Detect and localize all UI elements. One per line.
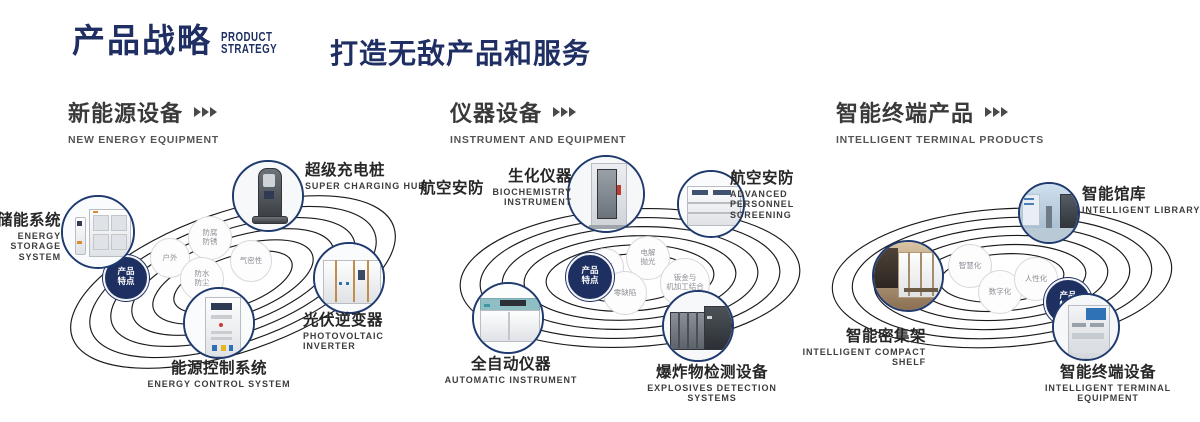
page-title: 产品战略 PRODUCT STRATEGY — [72, 24, 293, 57]
product-node-compact-shelf[interactable] — [872, 240, 944, 312]
section-heading-cn: 新能源设备 — [68, 96, 219, 128]
chevron-right-icon — [552, 107, 576, 117]
section-heading-en: NEW ENERGY EQUIPMENT — [68, 134, 219, 146]
product-label-compact-shelf: 智能密集架 INTELLIGENT COMPACT SHELF — [778, 328, 926, 368]
cluster-intelligent-terminal: 智慧化 数字化 人性化 产品 特点 智能馆库 — [820, 160, 1200, 410]
section-heading-cn: 智能终端产品 — [836, 96, 1044, 128]
product-node-terminal-equipment[interactable] — [1052, 293, 1120, 361]
section-heading-cn-text: 新能源设备 — [68, 96, 183, 128]
section-heading-en: INSTRUMENT AND EQUIPMENT — [450, 134, 626, 146]
product-label-pv-inverter: 光伏逆变器 PHOTOVOLTAIC INVERTER — [303, 312, 438, 352]
biochemistry-analyzer-icon — [569, 157, 643, 231]
product-label-energy-control: 能源控制系统 ENERGY CONTROL SYSTEM — [90, 360, 348, 389]
energy-storage-cabinet-icon — [63, 197, 133, 267]
chevron-right-icon — [984, 107, 1008, 117]
product-label-biochemistry: 生化仪器 BIOCHEMISTRY INSTRUMENT — [482, 168, 572, 208]
control-cabinet-icon — [185, 289, 253, 357]
product-label-terminal-equipment: 智能终端设备 INTELLIGENT TERMINAL EQUIPMENT — [1016, 364, 1200, 404]
product-node-pv-inverter[interactable] — [313, 242, 385, 314]
inverter-cabinet-icon — [315, 244, 383, 312]
chevron-right-icon — [193, 107, 217, 117]
section-heading-en: INTELLIGENT TERMINAL PRODUCTS — [836, 134, 1044, 146]
title-english-line2: STRATEGY — [221, 43, 277, 55]
section-heading-new-energy: 新能源设备 NEW ENERGY EQUIPMENT — [68, 96, 219, 146]
library-room-icon — [1020, 184, 1078, 242]
product-node-energy-storage[interactable] — [61, 195, 135, 269]
page-subtitle: 打造无敌产品和服务 — [330, 32, 591, 72]
section-heading-cn: 仪器设备 — [450, 96, 626, 128]
section-heading-instrument: 仪器设备 INSTRUMENT AND EQUIPMENT — [450, 96, 626, 146]
product-node-intelligent-library[interactable] — [1018, 182, 1080, 244]
product-node-automatic-instrument[interactable] — [472, 282, 544, 354]
product-label-intelligent-library: 智能馆库 INTELLIGENT LIBRARY — [1082, 186, 1200, 215]
feature-bubble: 防腐 防锈 — [188, 216, 232, 260]
section-heading-cn-text: 仪器设备 — [450, 96, 542, 128]
product-label-automatic-instrument: 全自动仪器 AUTOMATIC INSTRUMENT — [437, 356, 585, 385]
product-strategy-infographic: 产品战略 PRODUCT STRATEGY 打造无敌产品和服务 新能源设备 NE… — [0, 0, 1200, 422]
feature-bubble: 气密性 — [230, 240, 272, 282]
charging-pile-icon — [234, 162, 302, 230]
product-label-aviation-security: 航空安防 — [404, 180, 484, 197]
title-chinese: 产品战略 — [72, 24, 212, 57]
product-node-energy-control[interactable] — [183, 287, 255, 359]
product-label-energy-storage: 储能系统 ENERGY STORAGE SYSTEM — [0, 212, 61, 262]
product-node-charging-hub[interactable] — [232, 160, 304, 232]
feature-bubble-primary: 产品 特点 — [566, 253, 614, 301]
section-heading-cn-text: 智能终端产品 — [836, 96, 974, 128]
title-english: PRODUCT STRATEGY — [221, 31, 277, 55]
section-heading-intelligent-terminal: 智能终端产品 INTELLIGENT TERMINAL PRODUCTS — [836, 96, 1044, 146]
product-label-personnel-screening: 航空安防 ADVANCED PERSONNEL SCREENING — [730, 170, 830, 220]
cluster-new-energy: 户外 防腐 防锈 防水 防尘 气密性 产品 特点 — [55, 160, 435, 410]
cluster-instrument: 镜面 电解 抛光 钣金与 机加工结合 零缺陷 产品 特点 — [440, 160, 820, 410]
explosive-detector-icon — [664, 292, 732, 360]
compact-shelf-icon — [874, 242, 942, 310]
product-label-explosives-detection: 爆炸物检测设备 EXPLOSIVES DETECTION SYSTEMS — [622, 364, 802, 404]
terminal-kiosk-icon — [1054, 295, 1118, 359]
automatic-instrument-icon — [474, 284, 542, 352]
product-node-explosives-detection[interactable] — [662, 290, 734, 362]
product-node-biochemistry[interactable] — [567, 155, 645, 233]
